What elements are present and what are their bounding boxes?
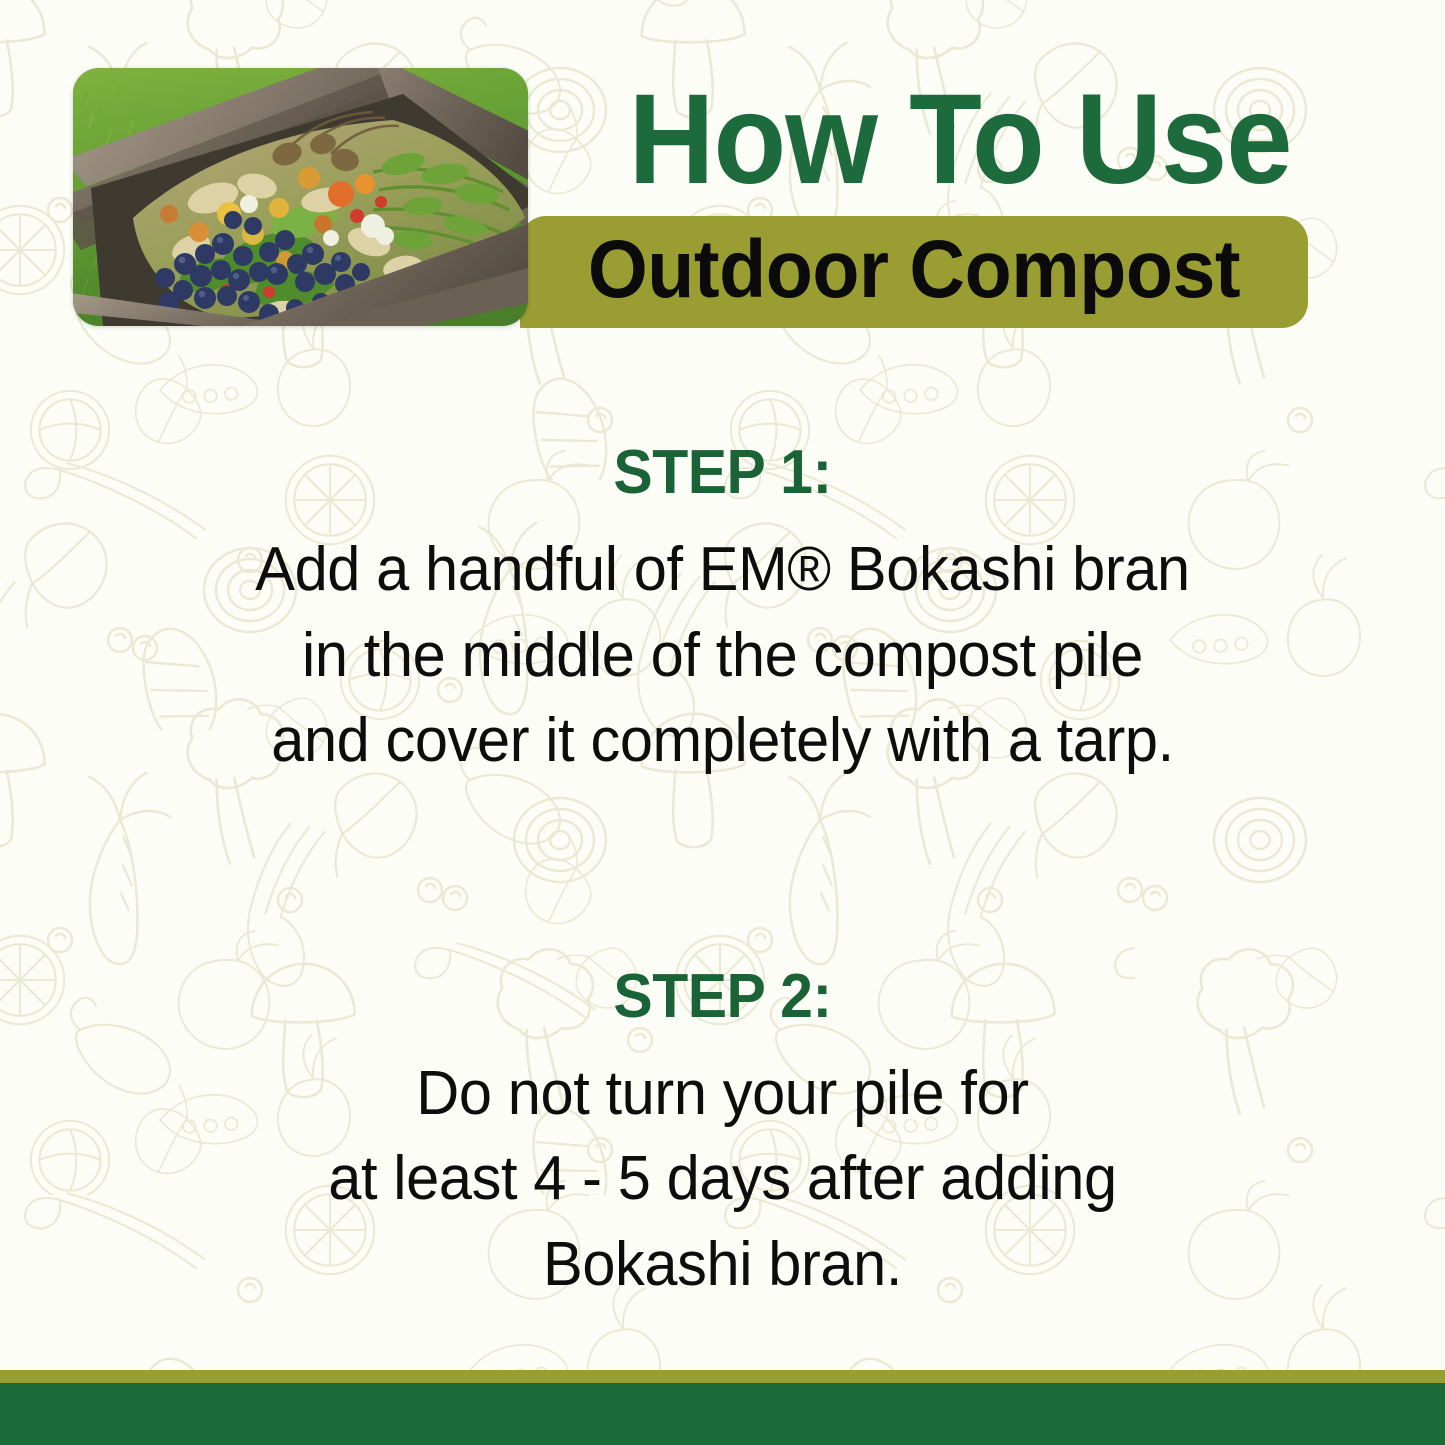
step-block-2: STEP 2: Do not turn your pile for at lea… [0, 964, 1445, 1308]
infographic-poster: How To Use Outdoor Compost STEP 1: Add a… [0, 0, 1445, 1445]
page-title: How To Use [569, 72, 1350, 207]
steps-section: STEP 1: Add a handful of EM® Bokashi bra… [0, 440, 1445, 1307]
step-block-1: STEP 1: Add a handful of EM® Bokashi bra… [0, 440, 1445, 784]
compost-bin-photo [73, 68, 528, 326]
footer-olive-stripe [0, 1370, 1445, 1383]
step-1-body: Add a handful of EM® Bokashi bran in the… [29, 527, 1416, 784]
subtitle-banner: Outdoor Compost [520, 216, 1308, 328]
step-2-heading: STEP 2: [36, 964, 1409, 1029]
step-2-body: Do not turn your pile for at least 4 - 5… [29, 1051, 1416, 1308]
footer-green-band [0, 1383, 1445, 1445]
subtitle-text: Outdoor Compost [588, 229, 1240, 315]
poster-header: How To Use Outdoor Compost [0, 0, 1445, 340]
step-1-heading: STEP 1: [36, 440, 1409, 505]
